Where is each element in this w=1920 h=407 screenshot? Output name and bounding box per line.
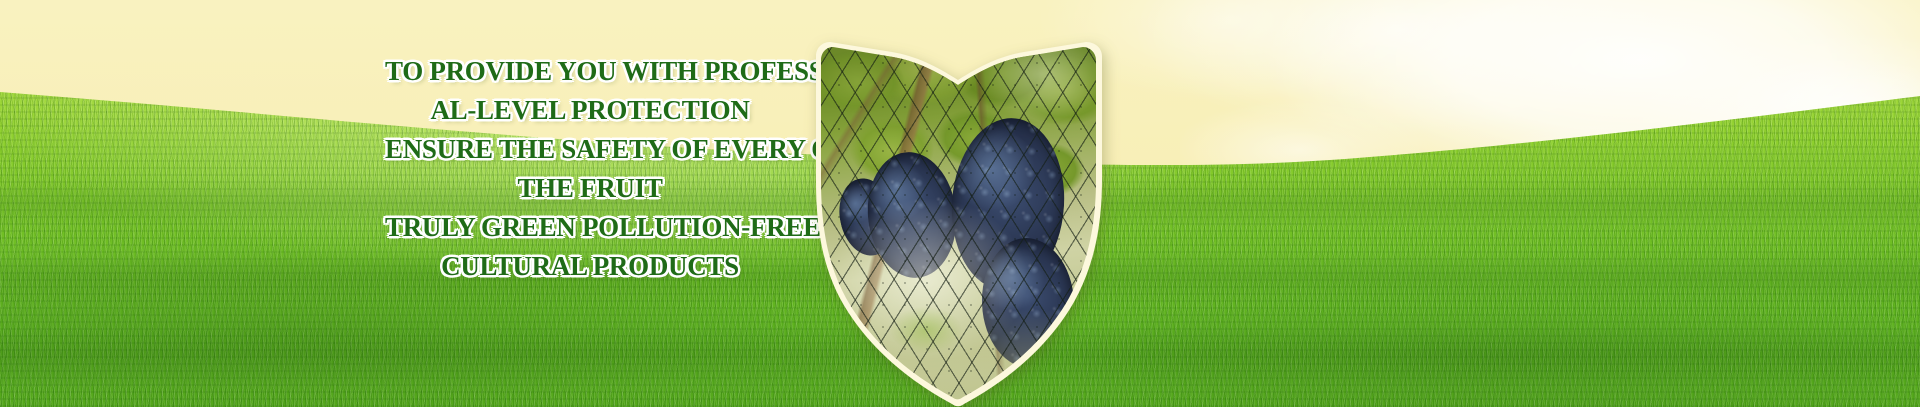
hero-banner: TO PROVIDE YOU WITH PROFESSION- AL-LEVEL… (0, 0, 1920, 407)
shield-emblem (806, 30, 1112, 407)
slogan-line-6: CULTURAL PRODUCTS (385, 247, 795, 286)
slogan-text-block: TO PROVIDE YOU WITH PROFESSION- AL-LEVEL… (385, 52, 795, 286)
shield-vineyard-photo (806, 30, 1112, 407)
protective-net-nodes (806, 30, 1112, 407)
slogan-line-4: THE FRUIT (385, 169, 795, 208)
slogan-line-3: ENSURE THE SAFETY OF EVERY ONE OF (385, 130, 795, 169)
slogan-line-2: AL-LEVEL PROTECTION (385, 91, 795, 130)
slogan-line-5: TRULY GREEN POLLUTION-FREE AGRI- (385, 208, 795, 247)
slogan-line-1: TO PROVIDE YOU WITH PROFESSION- (385, 52, 795, 91)
